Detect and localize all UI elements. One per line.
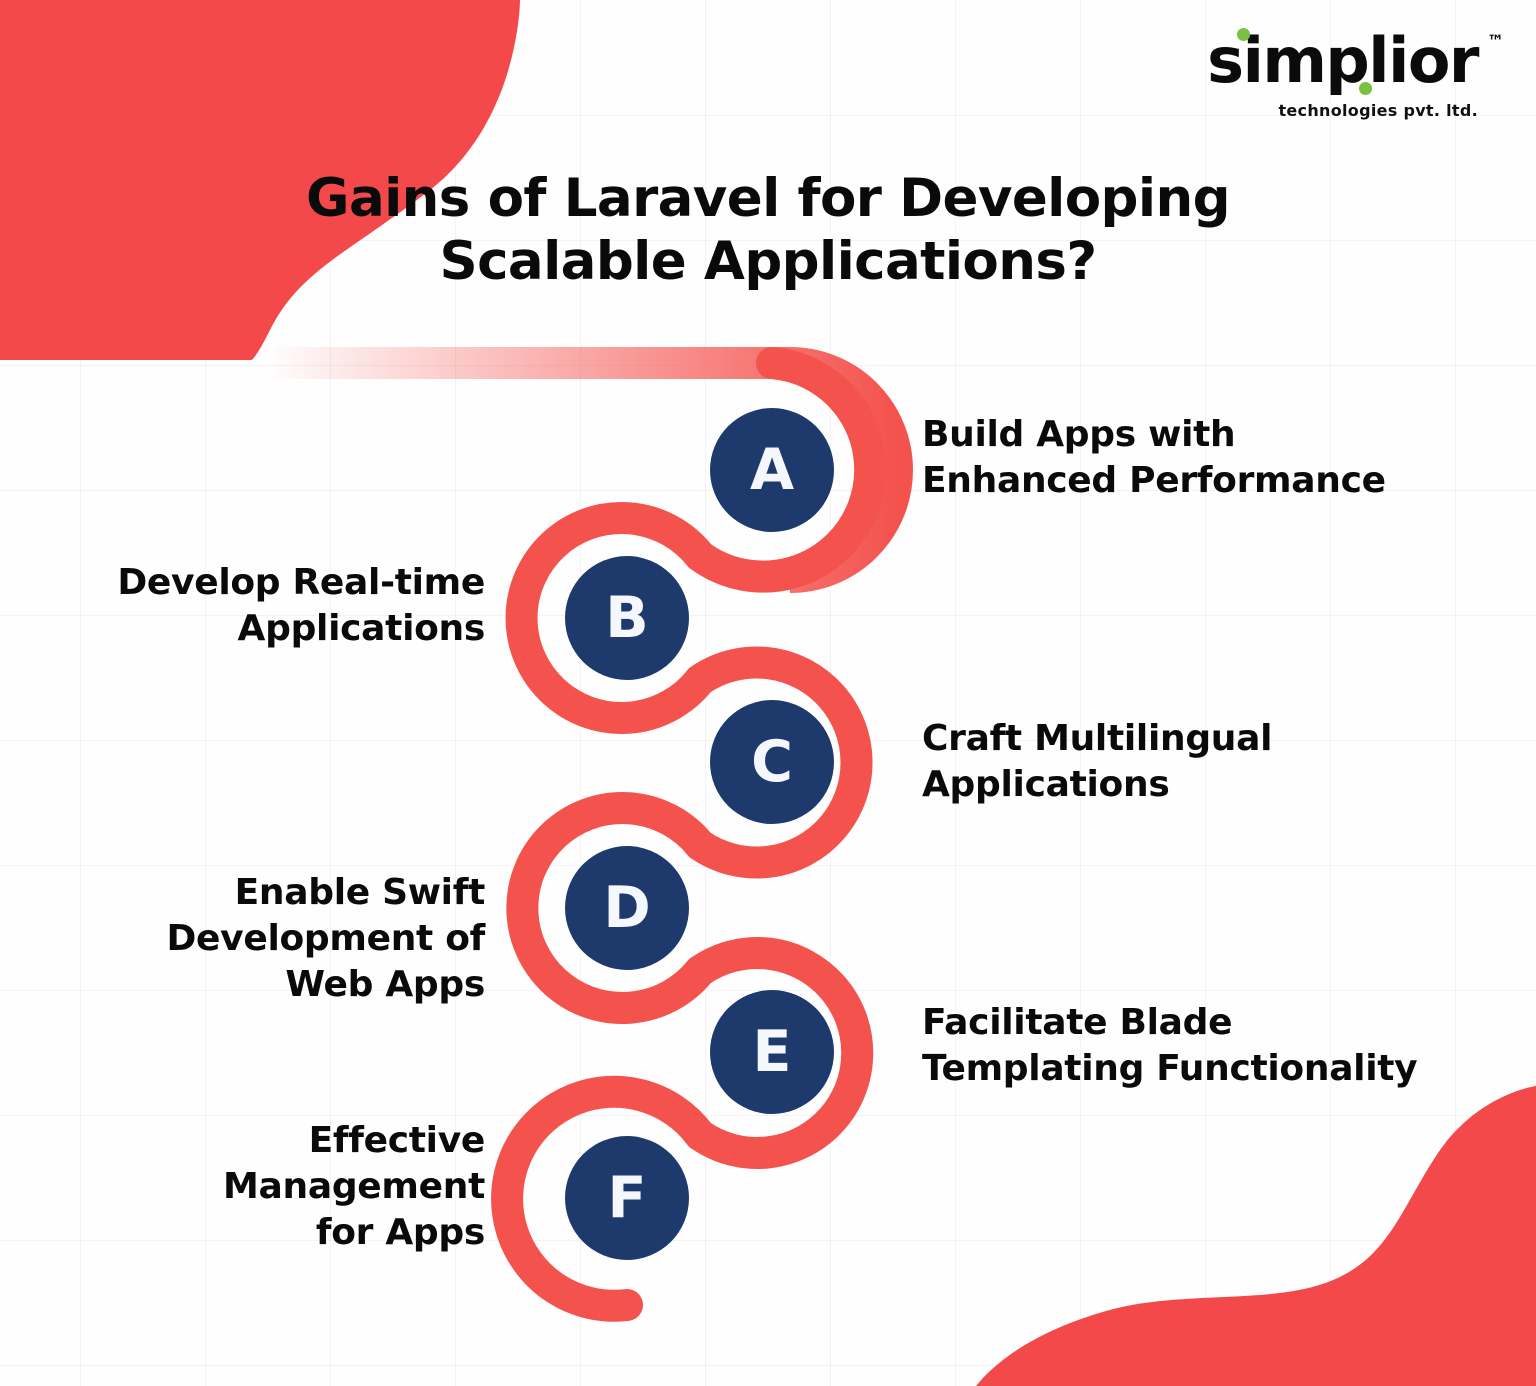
trademark-symbol: ™ xyxy=(1487,34,1504,51)
page-title: Gains of Laravel for Developing Scalable… xyxy=(0,168,1536,293)
step-circle-d[interactable]: D xyxy=(565,846,689,970)
logo-wordmark: simplior ™ xyxy=(1207,30,1478,92)
brand-logo: simplior ™ technologies pvt. ltd. xyxy=(1207,30,1478,120)
step-label-f: Effective Management for Apps xyxy=(60,1118,485,1256)
step-label-e: Facilitate Blade Templating Functionalit… xyxy=(922,1000,1522,1092)
step-label-c: Craft Multilingual Applications xyxy=(922,716,1502,808)
step-circle-c[interactable]: C xyxy=(710,700,834,824)
step-label-d: Enable Swift Development of Web Apps xyxy=(60,870,485,1008)
step-letter-f: F xyxy=(608,1170,647,1227)
page-title-line-2: Scalable Applications? xyxy=(440,231,1097,292)
step-label-b: Develop Real-time Applications xyxy=(60,560,485,652)
step-letter-c: C xyxy=(751,734,793,791)
page-title-line-1: Gains of Laravel for Developing xyxy=(306,168,1230,229)
infographic-canvas: simplior ™ technologies pvt. ltd. Gains … xyxy=(0,0,1536,1386)
decorative-blob-bottom-right xyxy=(936,1086,1536,1386)
step-letter-d: D xyxy=(603,880,650,937)
step-circle-b[interactable]: B xyxy=(565,556,689,680)
step-letter-b: B xyxy=(605,590,648,647)
step-circle-f[interactable]: F xyxy=(565,1136,689,1260)
step-label-a: Build Apps with Enhanced Performance xyxy=(922,412,1502,504)
step-circle-a[interactable]: A xyxy=(710,408,834,532)
logo-tagline: technologies pvt. ltd. xyxy=(1207,101,1478,120)
step-circle-e[interactable]: E xyxy=(710,990,834,1114)
step-letter-a: A xyxy=(750,442,794,499)
step-letter-e: E xyxy=(753,1024,792,1081)
